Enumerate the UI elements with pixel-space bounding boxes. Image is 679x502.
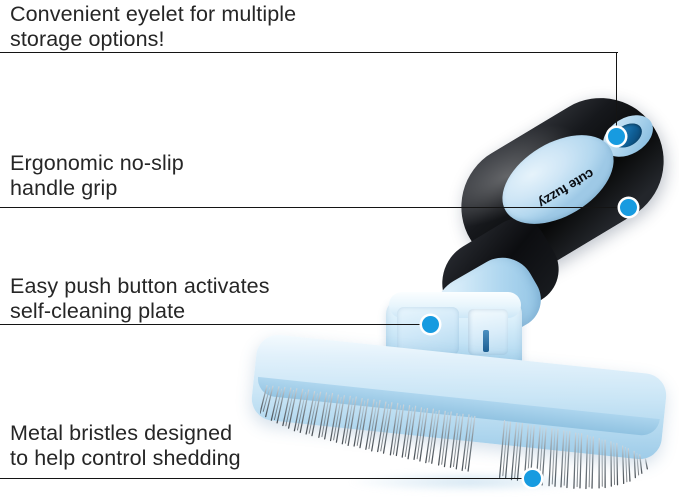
- metal-bristles: [255, 383, 663, 502]
- leader-line-bristles: [0, 478, 533, 479]
- push-button-marker-dot: [422, 316, 439, 333]
- callout-label-bristles: Metal bristles designed to help control …: [10, 421, 241, 471]
- push-button-housing: [386, 299, 522, 375]
- leader-line-handle-grip: [0, 207, 628, 208]
- callout-label-eyelet: Convenient eyelet for multiple storage o…: [10, 2, 296, 52]
- brush-head-plate: [250, 333, 669, 462]
- handle-grip-marker-dot: [620, 199, 637, 216]
- leader-line-eyelet-horizontal: [0, 52, 618, 53]
- handle-shaft: [421, 246, 552, 364]
- callout-label-handle-grip: Ergonomic no-slip handle grip: [10, 151, 184, 201]
- push-button-cap: [389, 292, 521, 318]
- self-cleaning-slot-bar: [483, 330, 489, 352]
- self-cleaning-slot: [468, 309, 508, 355]
- infographic-canvas: cute fuzzy: [0, 0, 679, 502]
- leader-line-push-button: [0, 324, 430, 325]
- eyelet-ring: [596, 107, 661, 166]
- brand-logo: cute fuzzy: [521, 156, 610, 221]
- eyelet-marker-dot: [608, 128, 625, 145]
- handle-rubber-grip: [438, 75, 679, 294]
- push-button-housing-foot: [396, 360, 516, 386]
- handle-neck: [426, 208, 571, 342]
- brush-head-plate-edge: [256, 377, 660, 437]
- bristles-marker-dot: [524, 470, 541, 487]
- callout-label-push-button: Easy push button activates self-cleaning…: [10, 274, 270, 324]
- product-reflection: [300, 470, 640, 500]
- leader-line-eyelet-vertical: [616, 52, 617, 137]
